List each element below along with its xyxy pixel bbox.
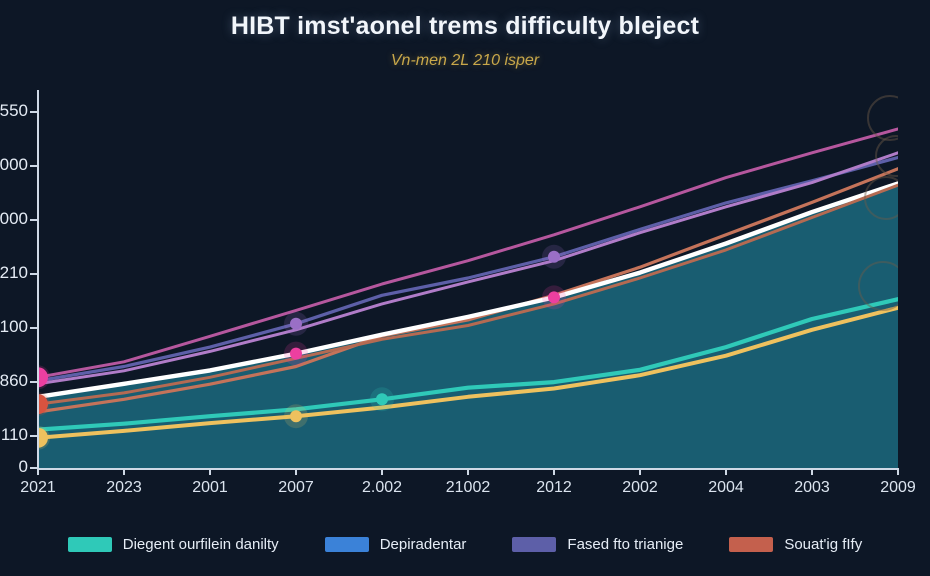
x-tick [811, 468, 813, 475]
chart-screenshot: HIBT imst'aonel trems difficulty bleject… [0, 0, 930, 576]
y-tick [30, 165, 37, 167]
x-tick [897, 468, 899, 475]
x-tick [209, 468, 211, 475]
series-marker [290, 318, 302, 330]
chart-legend: Diegent ourfilein daniltyDepiradentarFas… [0, 524, 930, 564]
x-tick [553, 468, 555, 475]
legend-label: Diegent ourfilein danilty [123, 536, 279, 553]
y-tick [30, 273, 37, 275]
series-marker [376, 393, 388, 405]
y-axis-line [37, 90, 39, 470]
y-tick [30, 327, 37, 329]
legend-item[interactable]: Diegent ourfilein danilty [68, 536, 279, 553]
chart-subtitle: Vn-men 2L 210 isper [0, 52, 930, 70]
y-tick [30, 467, 37, 469]
x-tick-label: 2003 [767, 479, 857, 497]
y-tick-label: 0 [0, 457, 28, 477]
x-tick-label: 2007 [251, 479, 341, 497]
series-marker [548, 251, 560, 263]
x-tick [467, 468, 469, 475]
y-tick-label: 000 [0, 155, 28, 175]
series-marker [290, 410, 302, 422]
series-marker [548, 291, 560, 303]
x-tick-label: 2009 [853, 479, 930, 497]
y-tick [30, 111, 37, 113]
x-tick-label: 2.002 [337, 479, 427, 497]
x-tick-label: 21002 [423, 479, 513, 497]
y-tick-label: 210 [0, 263, 28, 283]
x-tick [37, 468, 39, 475]
y-tick-label: 860 [0, 371, 28, 391]
y-tick-label: 100 [0, 317, 28, 337]
legend-swatch [512, 537, 556, 552]
legend-label: Depiradentar [380, 536, 467, 553]
x-tick-label: 2012 [509, 479, 599, 497]
y-tick [30, 219, 37, 221]
legend-swatch [325, 537, 369, 552]
x-tick-label: 2021 [0, 479, 83, 497]
x-tick [381, 468, 383, 475]
legend-item[interactable]: Depiradentar [325, 536, 467, 553]
y-tick-label: 000 [0, 209, 28, 229]
x-tick [295, 468, 297, 475]
plot-area [38, 88, 898, 468]
y-tick [30, 435, 37, 437]
x-tick-label: 2002 [595, 479, 685, 497]
legend-swatch [68, 537, 112, 552]
x-tick [725, 468, 727, 475]
x-tick-label: 2023 [79, 479, 169, 497]
y-tick [30, 381, 37, 383]
y-tick-label: 550 [0, 101, 28, 121]
legend-item[interactable]: Fased fto trianige [512, 536, 683, 553]
x-tick [639, 468, 641, 475]
series-marker [290, 348, 302, 360]
x-tick-label: 2004 [681, 479, 771, 497]
legend-label: Souat'ig fIfy [784, 536, 862, 553]
x-tick [123, 468, 125, 475]
legend-label: Fased fto trianige [567, 536, 683, 553]
legend-swatch [729, 537, 773, 552]
x-tick-label: 2001 [165, 479, 255, 497]
y-tick-label: 110 [0, 425, 28, 445]
plot-svg [38, 88, 898, 468]
legend-item[interactable]: Souat'ig fIfy [729, 536, 862, 553]
chart-title: HIBT imst'aonel trems difficulty bleject [0, 12, 930, 41]
